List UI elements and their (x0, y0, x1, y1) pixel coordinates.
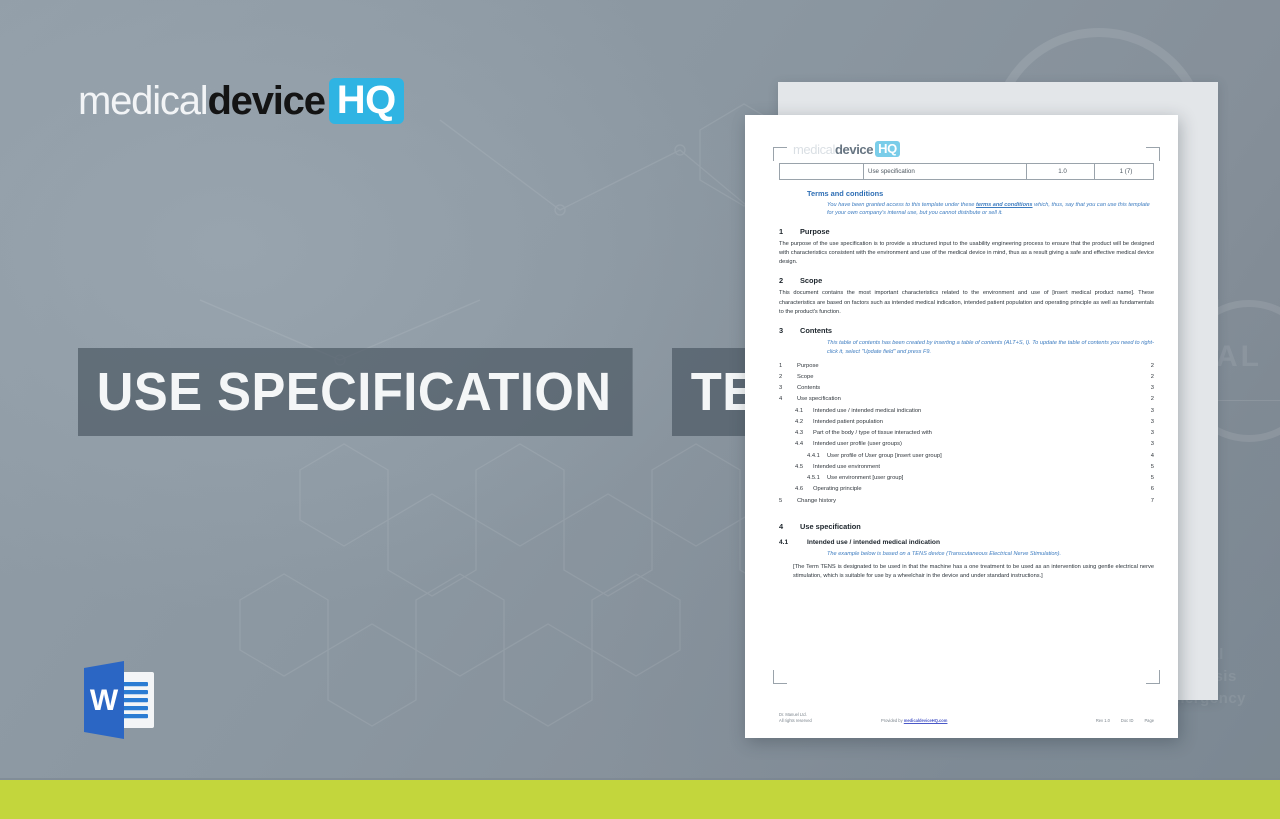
footer-middle: Provided by medicaldeviceHQ.com (881, 718, 1086, 724)
section-heading-3: 3 Contents (779, 326, 1154, 335)
header-cell-page: 1 (7) (1095, 164, 1153, 179)
crop-mark-top-right (1146, 147, 1160, 161)
toc-row[interactable]: 4.1Intended use / intended medical indic… (779, 405, 1154, 416)
footer-link[interactable]: medicaldeviceHQ.com (904, 718, 948, 723)
section-paragraph-2: This document contains the most importan… (779, 289, 1154, 317)
section-number-2: 2 (779, 276, 792, 285)
document-logo-hq: HQ (875, 141, 900, 157)
toc-row[interactable]: 4.5Intended use environment5 (779, 461, 1154, 472)
toc-label: Use environment [user group] (827, 475, 1144, 481)
toc-number: 4.1 (779, 408, 813, 414)
terms-text: You have been granted access to this tem… (827, 201, 1154, 218)
footer-left: Dr. Manuel Ltd. All rights reserved (779, 712, 871, 724)
footer-right: Rev 1.0 Doc ID Page (1096, 718, 1154, 724)
toc-page: 2 (1144, 374, 1154, 380)
document-preview[interactable]: medical device HQ Use specification 1.0 … (745, 115, 1178, 738)
section-title-1: Purpose (800, 227, 830, 236)
toc-number: 4.3 (779, 430, 813, 436)
brand-logo-device: device (207, 81, 324, 121)
header-cell-version: 1.0 (1027, 164, 1095, 179)
toc-label: Operating principle (813, 486, 1144, 492)
toc-page: 3 (1144, 441, 1154, 447)
toc-row[interactable]: 1Purpose2 (779, 360, 1154, 371)
toc-number: 4.5.1 (779, 475, 827, 481)
slide-canvas: MEDICAL Care Doctor Hospital Diagnosis E… (0, 0, 1280, 819)
table-of-contents: 1Purpose2 2Scope2 3Contents3 4Use specif… (779, 360, 1154, 506)
toc-row[interactable]: 4.2Intended patient population3 (779, 416, 1154, 427)
brand-logo: medical device HQ (78, 78, 404, 124)
section-heading-1: 1 Purpose (779, 227, 1154, 236)
toc-label: User profile of User group [insert user … (827, 453, 1144, 459)
toc-row[interactable]: 5Change history7 (779, 495, 1154, 506)
toc-number: 4.2 (779, 419, 813, 425)
section-title-4-1: Intended use / intended medical indicati… (807, 539, 940, 546)
svg-text:W: W (90, 684, 119, 717)
document-logo-device: device (835, 143, 873, 156)
document-header-logo: medical device HQ (793, 141, 900, 157)
header-cell-logo (780, 164, 864, 179)
toc-label: Change history (797, 498, 1144, 504)
toc-page: 5 (1144, 475, 1154, 481)
footer-docid: Doc ID (1121, 718, 1134, 724)
toc-label: Purpose (797, 363, 1144, 369)
terms-text-before: You have been granted access to this tem… (827, 202, 974, 208)
toc-row[interactable]: 4.3Part of the body / type of tissue int… (779, 428, 1154, 439)
section-title-4: Use specification (800, 522, 861, 531)
toc-page: 3 (1144, 385, 1154, 391)
document-logo-medical: medical (793, 143, 835, 156)
toc-page: 2 (1144, 363, 1154, 369)
footer-page: Page (1144, 718, 1154, 724)
section-title-2: Scope (800, 276, 822, 285)
toc-row[interactable]: 4Use specification2 (779, 394, 1154, 405)
toc-label: Scope (797, 374, 1144, 380)
section-heading-4-1: 4.1 Intended use / intended medical indi… (779, 539, 1154, 546)
terms-link[interactable]: terms and conditions (976, 202, 1033, 208)
section-paragraph-1: The purpose of the use specification is … (779, 240, 1154, 268)
toc-label: Intended patient population (813, 419, 1144, 425)
header-cell-title: Use specification (864, 164, 1027, 179)
toc-label: Use specification (797, 396, 1144, 402)
toc-label: Intended use environment (813, 464, 1144, 470)
toc-page: 7 (1144, 498, 1154, 504)
contents-note: This table of contents has been created … (827, 339, 1154, 356)
toc-number: 4 (779, 396, 797, 402)
document-header-table: Use specification 1.0 1 (7) (779, 163, 1154, 180)
document-footer: Dr. Manuel Ltd. All rights reserved Prov… (779, 712, 1154, 724)
document-body: Terms and conditions You have been grant… (779, 189, 1154, 585)
toc-number: 4.4.1 (779, 453, 827, 459)
section-number-4: 4 (779, 522, 792, 531)
brand-logo-medical: medical (78, 81, 207, 121)
section-heading-4: 4 Use specification (779, 522, 1154, 531)
toc-row[interactable]: 4.4Intended user profile (user groups)3 (779, 439, 1154, 450)
crop-mark-bottom-left (773, 670, 787, 684)
toc-label: Contents (797, 385, 1144, 391)
section-number-4-1: 4.1 (779, 539, 799, 546)
toc-label: Intended user profile (user groups) (813, 441, 1144, 447)
toc-number: 3 (779, 385, 797, 391)
footer-mid-prefix: Provided by (881, 718, 904, 723)
section-number-1: 1 (779, 227, 792, 236)
toc-number: 2 (779, 374, 797, 380)
section-title-3: Contents (800, 326, 832, 335)
section-4-1-bracket-text: [The Term TENS is designated to be used … (793, 563, 1154, 581)
toc-row[interactable]: 2Scope2 (779, 371, 1154, 382)
toc-row[interactable]: 4.4.1User profile of User group [insert … (779, 450, 1154, 461)
section-4-1-note: The example below is based on a TENS dev… (827, 550, 1154, 558)
toc-number: 4.4 (779, 441, 813, 447)
footer-rev: Rev 1.0 (1096, 718, 1110, 724)
toc-number: 4.6 (779, 486, 813, 492)
toc-page: 5 (1144, 464, 1154, 470)
toc-page: 6 (1144, 486, 1154, 492)
toc-label: Intended use / intended medical indicati… (813, 408, 1144, 414)
section-number-3: 3 (779, 326, 792, 335)
section-heading-2: 2 Scope (779, 276, 1154, 285)
toc-page: 4 (1144, 453, 1154, 459)
toc-row[interactable]: 3Contents3 (779, 383, 1154, 394)
bottom-accent-bar (0, 780, 1280, 819)
toc-page: 2 (1144, 396, 1154, 402)
toc-label: Part of the body / type of tissue intera… (813, 430, 1144, 436)
microsoft-word-icon: W (80, 658, 160, 742)
toc-number: 1 (779, 363, 797, 369)
brand-logo-hq: HQ (329, 78, 404, 124)
toc-row[interactable]: 4.6Operating principle6 (779, 484, 1154, 495)
toc-number: 4.5 (779, 464, 813, 470)
crop-mark-top-left (773, 147, 787, 161)
toc-row[interactable]: 4.5.1Use environment [user group]5 (779, 473, 1154, 484)
toc-page: 3 (1144, 408, 1154, 414)
page-title-line1: USE SPECIFICATION (78, 348, 632, 436)
toc-page: 3 (1144, 419, 1154, 425)
terms-heading: Terms and conditions (807, 189, 1154, 198)
toc-number: 5 (779, 498, 797, 504)
crop-mark-bottom-right (1146, 670, 1160, 684)
toc-page: 3 (1144, 430, 1154, 436)
